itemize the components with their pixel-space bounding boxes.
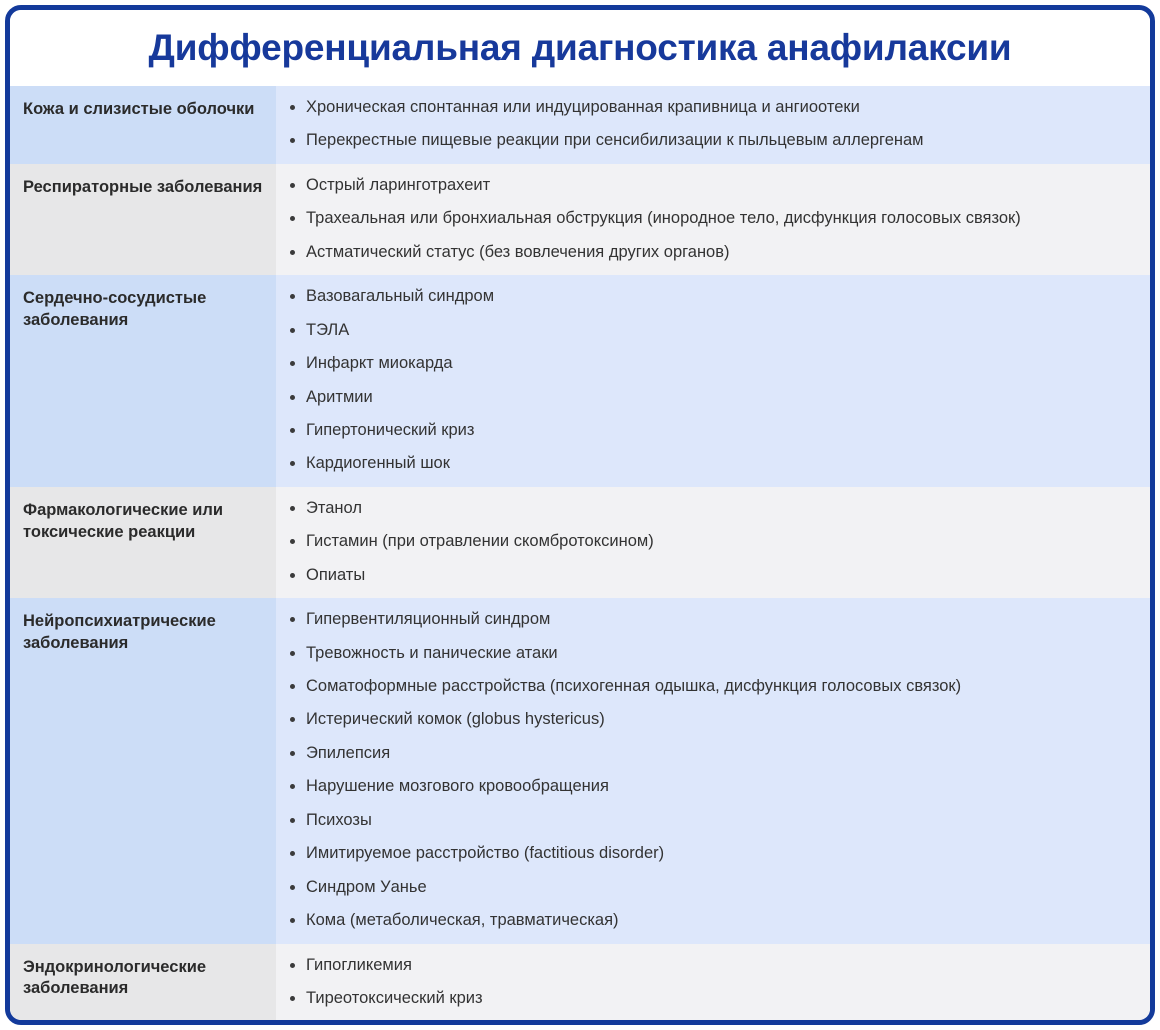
list-item: Гипогликемия <box>276 955 1140 976</box>
diagnosis-list-cell: Острый ларинготрахеитТрахеальная или бро… <box>276 164 1150 275</box>
bullet-icon <box>290 183 295 188</box>
list-item-label: Острый ларинготрахеит <box>306 176 490 194</box>
diagnosis-list-cell: Гипервентиляционный синдромТревожность и… <box>276 598 1150 943</box>
list-item: Имитируемое расстройство (factitious dis… <box>276 843 1140 864</box>
table-row: Фармакологические или токсические реакци… <box>10 487 1150 598</box>
list-item: Гипервентиляционный синдром <box>276 609 1140 630</box>
bullet-icon <box>290 361 295 366</box>
bullet-icon <box>290 651 295 656</box>
table-row: Нейропсихиатрические заболеванияГипервен… <box>10 598 1150 943</box>
list-item-label: Тиреотоксический криз <box>306 989 483 1007</box>
list-item-label: Карциноидный синдром <box>306 1022 490 1025</box>
diagnosis-list: Гипервентиляционный синдромТревожность и… <box>276 609 1140 931</box>
bullet-icon <box>290 428 295 433</box>
poster-frame: Дифференциальная диагностика анафилаксии… <box>5 5 1155 1025</box>
list-item: Кардиогенный шок <box>276 453 1140 474</box>
diagnosis-list: ГипогликемияТиреотоксический кризКарцино… <box>276 955 1140 1026</box>
bullet-icon <box>290 918 295 923</box>
list-item-label: Имитируемое расстройство (factitious dis… <box>306 844 664 862</box>
bullet-icon <box>290 885 295 890</box>
list-item: Опиаты <box>276 565 1140 586</box>
differential-diagnosis-table: Кожа и слизистые оболочкиХроническая спо… <box>10 86 1150 1025</box>
table-body: Кожа и слизистые оболочкиХроническая спо… <box>10 86 1150 1025</box>
bullet-icon <box>290 963 295 968</box>
diagnosis-list-cell: Вазовагальный синдромТЭЛАИнфаркт миокард… <box>276 275 1150 487</box>
list-item-label: Тревожность и панические атаки <box>306 644 558 662</box>
list-item-label: Этанол <box>306 499 362 517</box>
list-item: Синдром Уанье <box>276 877 1140 898</box>
list-item-label: Синдром Уанье <box>306 878 427 896</box>
bullet-icon <box>290 717 295 722</box>
list-item-label: Гипогликемия <box>306 956 412 974</box>
table-row: Сердечно-сосудистые заболеванияВазовагал… <box>10 275 1150 487</box>
list-item: Соматоформные расстройства (психогенная … <box>276 676 1140 697</box>
list-item: Истерический комок (globus hystericus) <box>276 709 1140 730</box>
bullet-icon <box>290 216 295 221</box>
bullet-icon <box>290 539 295 544</box>
list-item-label: Психозы <box>306 811 372 829</box>
list-item-label: ТЭЛА <box>306 321 349 339</box>
category-label: Кожа и слизистые оболочки <box>10 86 276 164</box>
list-item-label: Астматический статус (без вовлечения дру… <box>306 243 730 261</box>
bullet-icon <box>290 506 295 511</box>
list-item: Тиреотоксический криз <box>276 988 1140 1009</box>
list-item-label: Вазовагальный синдром <box>306 287 494 305</box>
bullet-icon <box>290 395 295 400</box>
list-item-label: Истерический комок (globus hystericus) <box>306 710 605 728</box>
list-item: Аритмии <box>276 387 1140 408</box>
list-item-label: Гипервентиляционный синдром <box>306 610 550 628</box>
bullet-icon <box>290 573 295 578</box>
bullet-icon <box>290 105 295 110</box>
list-item: ТЭЛА <box>276 320 1140 341</box>
diagnosis-list-cell: ГипогликемияТиреотоксический кризКарцино… <box>276 944 1150 1026</box>
list-item-label: Аритмии <box>306 388 373 406</box>
list-item: Нарушение мозгового кровообращения <box>276 776 1140 797</box>
list-item: Трахеальная или бронхиальная обструкция … <box>276 208 1140 229</box>
category-label: Нейропсихиатрические заболевания <box>10 598 276 943</box>
category-label: Эндокринологические заболевания <box>10 944 276 1026</box>
diagnosis-list-cell: ЭтанолГистамин (при отравлении скомброто… <box>276 487 1150 598</box>
bullet-icon <box>290 818 295 823</box>
list-item: Острый ларинготрахеит <box>276 175 1140 196</box>
bullet-icon <box>290 751 295 756</box>
list-item-label: Хроническая спонтанная или индуцированна… <box>306 98 860 116</box>
list-item: Карциноидный синдром <box>276 1021 1140 1025</box>
diagnosis-list: ЭтанолГистамин (при отравлении скомброто… <box>276 498 1140 586</box>
table-row: Кожа и слизистые оболочкиХроническая спо… <box>10 86 1150 164</box>
list-item: Этанол <box>276 498 1140 519</box>
list-item: Тревожность и панические атаки <box>276 643 1140 664</box>
bullet-icon <box>290 138 295 143</box>
list-item-label: Соматоформные расстройства (психогенная … <box>306 677 961 695</box>
diagnosis-list: Острый ларинготрахеитТрахеальная или бро… <box>276 175 1140 263</box>
category-label: Фармакологические или токсические реакци… <box>10 487 276 598</box>
list-item: Астматический статус (без вовлечения дру… <box>276 242 1140 263</box>
list-item-label: Гистамин (при отравлении скомбротоксином… <box>306 532 654 550</box>
bullet-icon <box>290 784 295 789</box>
list-item: Психозы <box>276 810 1140 831</box>
list-item-label: Кардиогенный шок <box>306 454 450 472</box>
list-item: Эпилепсия <box>276 743 1140 764</box>
diagnosis-list-cell: Хроническая спонтанная или индуцированна… <box>276 86 1150 164</box>
list-item-label: Инфаркт миокарда <box>306 354 453 372</box>
list-item-label: Нарушение мозгового кровообращения <box>306 777 609 795</box>
list-item-label: Трахеальная или бронхиальная обструкция … <box>306 209 1021 227</box>
diagnosis-list: Хроническая спонтанная или индуцированна… <box>276 97 1140 152</box>
table-row: Респираторные заболеванияОстрый ларингот… <box>10 164 1150 275</box>
list-item-label: Гипертонический криз <box>306 421 474 439</box>
bullet-icon <box>290 617 295 622</box>
bullet-icon <box>290 250 295 255</box>
list-item-label: Эпилепсия <box>306 744 390 762</box>
bullet-icon <box>290 684 295 689</box>
diagnosis-list: Вазовагальный синдромТЭЛАИнфаркт миокард… <box>276 286 1140 475</box>
bullet-icon <box>290 461 295 466</box>
bullet-icon <box>290 851 295 856</box>
list-item: Перекрестные пищевые реакции при сенсиби… <box>276 130 1140 151</box>
list-item-label: Перекрестные пищевые реакции при сенсиби… <box>306 131 924 149</box>
table-row: Эндокринологические заболеванияГипоглике… <box>10 944 1150 1026</box>
list-item-label: Опиаты <box>306 566 365 584</box>
title-bar: Дифференциальная диагностика анафилаксии <box>10 10 1150 86</box>
bullet-icon <box>290 294 295 299</box>
list-item: Инфаркт миокарда <box>276 353 1140 374</box>
page-title: Дифференциальная диагностика анафилаксии <box>149 29 1012 68</box>
list-item: Кома (метаболическая, травматическая) <box>276 910 1140 931</box>
list-item-label: Кома (метаболическая, травматическая) <box>306 911 619 929</box>
category-label: Сердечно-сосудистые заболевания <box>10 275 276 487</box>
list-item: Вазовагальный синдром <box>276 286 1140 307</box>
bullet-icon <box>290 996 295 1001</box>
list-item: Гипертонический криз <box>276 420 1140 441</box>
bullet-icon <box>290 328 295 333</box>
category-label: Респираторные заболевания <box>10 164 276 275</box>
list-item: Хроническая спонтанная или индуцированна… <box>276 97 1140 118</box>
list-item: Гистамин (при отравлении скомбротоксином… <box>276 531 1140 552</box>
